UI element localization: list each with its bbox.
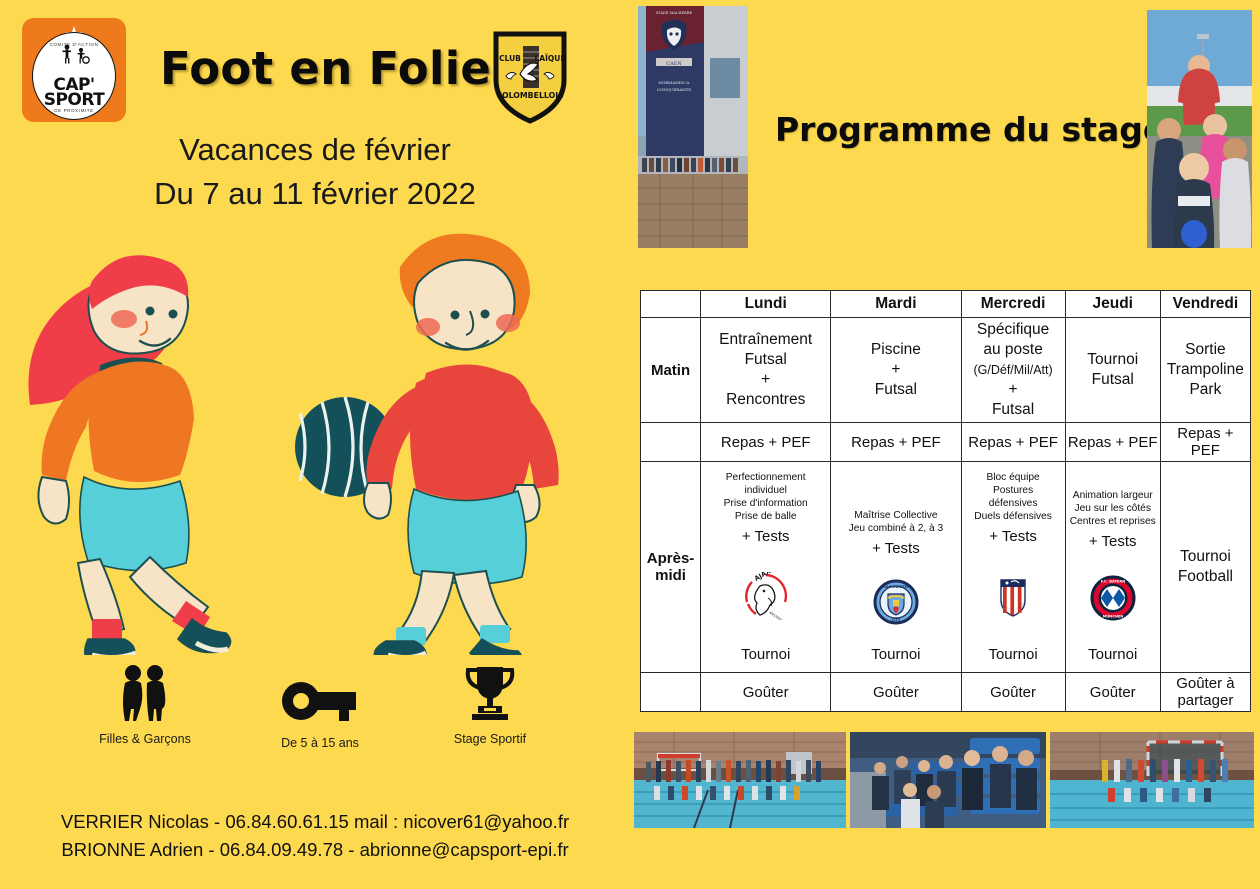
cell-matin-mercredi: Spécifiqueau poste (G/Déf/Mil/Att) +Futs… bbox=[961, 318, 1065, 423]
bayern-munich-crest: F.C. BAYERN MÜNCHEN bbox=[1089, 574, 1137, 622]
subtitle-vacances: Vacances de février bbox=[0, 132, 630, 168]
contact-line-2: BRIONNE Adrien - 06.84.09.49.78 - abrion… bbox=[0, 836, 630, 864]
table-row-matin: Matin EntraînementFutsal +Rencontres Pis… bbox=[641, 318, 1251, 423]
svg-text:NORMANDS &: NORMANDS & bbox=[658, 80, 689, 85]
row-label-repas bbox=[641, 423, 701, 462]
feature-label: Stage Sportif bbox=[420, 732, 560, 746]
cell-repas-mercredi: Repas + PEF bbox=[961, 423, 1065, 462]
cell-matin-jeudi: TournoiFutsal bbox=[1065, 318, 1160, 423]
table-corner-cell bbox=[641, 291, 701, 318]
feature-filles-garcons: Filles & Garçons bbox=[90, 660, 200, 746]
row-label-apres-midi: Après-midi bbox=[641, 462, 701, 673]
capsport-wordmark: CAP' SPORT bbox=[44, 78, 105, 108]
capsport-arc-bottom: DE PROXIMITE bbox=[33, 108, 115, 113]
subtitle-dates: Du 7 au 11 février 2022 bbox=[0, 176, 630, 212]
shield-word-bottom: COLOMBELLOIS bbox=[496, 91, 564, 100]
club-laique-colombellois-shield: CLUB LAÏQUE COLOMBELLOIS bbox=[490, 28, 570, 124]
day-header-vendredi: Vendredi bbox=[1160, 291, 1250, 318]
capsport-disc: COMITE D'ACTION CAP' SPORT DE PROXIMITE bbox=[32, 32, 116, 120]
atletico-madrid-crest bbox=[989, 572, 1037, 620]
table-row-apres-midi: Après-midi Perfectionnement individuel P… bbox=[641, 462, 1251, 673]
cell-matin-lundi: EntraînementFutsal +Rencontres bbox=[701, 318, 831, 423]
photo-handball-goal-group bbox=[1050, 732, 1254, 828]
cell-apres-mercredi: Bloc équipe Postures défensives Duels dé… bbox=[961, 462, 1065, 673]
svg-text:MÜNCHEN: MÜNCHEN bbox=[1102, 614, 1123, 619]
capsport-figures-icon bbox=[51, 44, 97, 64]
contact-line-1: VERRIER Nicolas - 06.84.60.61.15 mail : … bbox=[0, 808, 630, 836]
cell-repas-vendredi: Repas + PEF bbox=[1160, 423, 1250, 462]
svg-text:MANCHESTER: MANCHESTER bbox=[882, 585, 910, 589]
cell-repas-lundi: Repas + PEF bbox=[701, 423, 831, 462]
photo-sports-hall-group bbox=[634, 732, 846, 828]
cell-repas-jeudi: Repas + PEF bbox=[1065, 423, 1160, 462]
row-label-matin: Matin bbox=[641, 318, 701, 423]
cell-gouter-jeudi: Goûter bbox=[1065, 673, 1160, 712]
programme-table: Lundi Mardi Mercredi Jeudi Vendredi Mati… bbox=[640, 290, 1251, 712]
kids-playing-football-illustration bbox=[0, 215, 630, 655]
cell-apres-vendredi: Tournoi Football bbox=[1160, 462, 1250, 673]
day-header-mercredi: Mercredi bbox=[961, 291, 1065, 318]
girl-figure bbox=[28, 255, 230, 655]
cell-repas-mardi: Repas + PEF bbox=[831, 423, 961, 462]
bottom-photo-strip bbox=[634, 732, 1254, 828]
row-label-gouter bbox=[641, 673, 701, 712]
capsport-logo: ★ COMITE D'ACTION CAP' SPORT DE PROXIMIT… bbox=[22, 18, 126, 122]
day-header-jeudi: Jeudi bbox=[1065, 291, 1160, 318]
cell-gouter-lundi: Goûter bbox=[701, 673, 831, 712]
programme-title: Programme du stage bbox=[775, 110, 1165, 149]
feature-label: Filles & Garçons bbox=[90, 732, 200, 746]
svg-text:F.C. BAYERN: F.C. BAYERN bbox=[1100, 580, 1125, 584]
feature-age-range: De 5 à 15 ans bbox=[250, 664, 390, 750]
svg-text:CAEN: CAEN bbox=[666, 61, 682, 67]
photo-caen-stadium: CAEN STADE MALHERBE NORMANDS & CONQUERAN… bbox=[638, 6, 748, 248]
cell-apres-mardi: Maîtrise Collective Jeu combiné à 2, à 3… bbox=[831, 462, 961, 673]
cell-apres-lundi: Perfectionnement individuel Prise d'info… bbox=[701, 462, 831, 673]
boy-figure bbox=[364, 234, 559, 655]
ajax-crest: AJAX AMSTERDAM bbox=[742, 572, 790, 620]
photo-coach-and-kids bbox=[1147, 10, 1252, 248]
features-row: Filles & Garçons De 5 à 15 ans bbox=[0, 660, 630, 770]
svg-text:STADE MALHERBE: STADE MALHERBE bbox=[656, 11, 693, 15]
table-row-gouter: Goûter Goûter Goûter Goûter Goûter à par… bbox=[641, 673, 1251, 712]
cell-gouter-mercredi: Goûter bbox=[961, 673, 1065, 712]
cell-matin-vendredi: SortieTrampoline Park bbox=[1160, 318, 1250, 423]
cell-matin-mardi: Piscine+ Futsal bbox=[831, 318, 961, 423]
cell-gouter-mardi: Goûter bbox=[831, 673, 961, 712]
svg-text:AMSTERDAM: AMSTERDAM bbox=[768, 610, 787, 619]
svg-text:CONQUERANTS: CONQUERANTS bbox=[657, 87, 691, 92]
table-header-row: Lundi Mardi Mercredi Jeudi Vendredi bbox=[641, 291, 1251, 318]
shield-word-right: LAÏQUE bbox=[535, 54, 566, 63]
feature-label: De 5 à 15 ans bbox=[250, 736, 390, 750]
trophy-icon bbox=[420, 660, 560, 722]
day-header-lundi: Lundi bbox=[701, 291, 831, 318]
two-children-icon bbox=[90, 660, 200, 722]
feature-stage-sportif: Stage Sportif bbox=[420, 660, 560, 746]
cell-apres-jeudi: Animation largeur Jeu sur les côtés Cent… bbox=[1065, 462, 1160, 673]
shield-word-left: CLUB bbox=[499, 54, 521, 63]
key-icon bbox=[250, 664, 390, 726]
table-row-repas: Repas + PEF Repas + PEF Repas + PEF Repa… bbox=[641, 423, 1251, 462]
cell-gouter-vendredi: Goûter à partager bbox=[1160, 673, 1250, 712]
capsport-arc-top: COMITE D'ACTION bbox=[33, 42, 115, 47]
day-header-mardi: Mardi bbox=[831, 291, 961, 318]
svg-text:AJAX: AJAX bbox=[753, 572, 772, 583]
manchester-city-crest: MANCHESTER CITY bbox=[872, 578, 920, 626]
photo-stadium-stands bbox=[850, 732, 1046, 828]
poster-root: ★ COMITE D'ACTION CAP' SPORT DE PROXIMIT… bbox=[0, 0, 1260, 889]
svg-text:CITY: CITY bbox=[891, 618, 900, 622]
poster-title: Foot en Folie bbox=[160, 42, 491, 95]
contact-block: VERRIER Nicolas - 06.84.60.61.15 mail : … bbox=[0, 808, 630, 864]
